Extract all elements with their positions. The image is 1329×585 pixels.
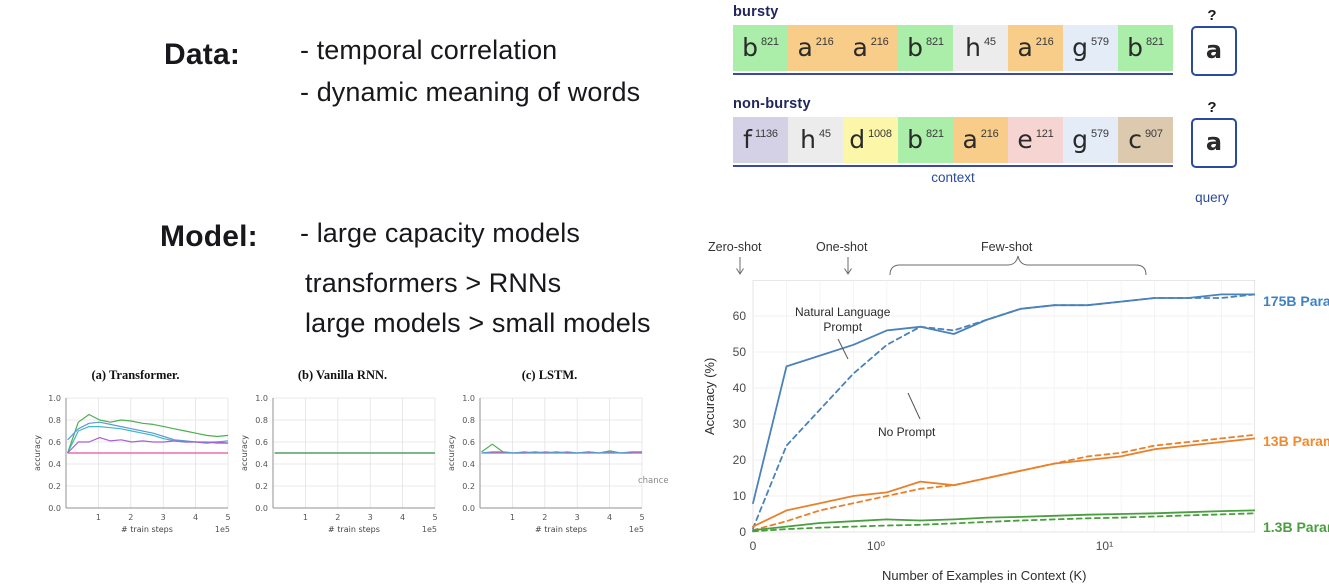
context-cell[interactable]: g579 xyxy=(1063,25,1118,71)
page-title-model: Model: xyxy=(160,220,258,254)
context-underline-non-bursty xyxy=(733,165,1173,167)
context-cell[interactable]: a216 xyxy=(843,25,898,71)
context-cell-glyph: d xyxy=(849,127,865,152)
mini-x-exponent: 1e5 xyxy=(629,525,644,534)
gpt3-incontext-chart: Zero-shot One-shot Few-shot Accuracy (%)… xyxy=(690,235,1329,585)
mini-y-tick: 0.6 xyxy=(462,438,475,447)
mini-x-tick: 2 xyxy=(128,513,133,522)
context-cell-id: 216 xyxy=(816,36,834,48)
mini-y-axis-title: accuracy xyxy=(240,435,249,471)
mini-y-tick: 0.2 xyxy=(48,482,61,491)
query-glyph-non-bursty: a xyxy=(1206,130,1222,154)
mini-x-tick: 4 xyxy=(193,513,198,522)
context-cell[interactable]: b821 xyxy=(1118,25,1173,71)
mini-y-axis-title: accuracy xyxy=(33,435,42,471)
mini-x-tick: 4 xyxy=(400,513,405,522)
mini-x-axis-title: # train steps xyxy=(535,525,587,534)
mini-chart-vanilla-rnn: (b) Vanilla RNN. 0.00.20.40.60.81.012345… xyxy=(235,368,450,553)
sequence-row-non-bursty: non-bursty f1136h45d1008b821a216e121g579… xyxy=(733,96,1237,223)
context-cell-glyph: a xyxy=(1017,35,1032,60)
context-cell[interactable]: b821 xyxy=(898,117,953,163)
data-bullet-1: - temporal correlation xyxy=(300,35,557,66)
context-cell-id: 1136 xyxy=(755,128,778,140)
context-cell-id: 907 xyxy=(1145,128,1163,140)
mini-x-axis-title: # train steps xyxy=(328,525,380,534)
mini-x-tick: 5 xyxy=(432,513,437,522)
mini-chart-svg: 0.00.20.40.60.81.0123451e5# train stepsa… xyxy=(28,390,243,550)
query-box-non-bursty[interactable]: a xyxy=(1191,118,1237,168)
context-cell-id: 45 xyxy=(819,128,831,140)
mini-chart-title-c: (c) LSTM. xyxy=(442,368,657,383)
mini-y-tick: 0.4 xyxy=(48,460,61,469)
context-label: context xyxy=(733,170,1173,185)
context-cell-glyph: g xyxy=(1072,127,1088,152)
mini-x-tick: 3 xyxy=(161,513,166,522)
query-label: query xyxy=(1191,190,1233,205)
context-underline-bursty xyxy=(733,73,1173,75)
mini-y-tick: 0.8 xyxy=(48,416,61,425)
mini-x-tick: 5 xyxy=(639,513,644,522)
mini-x-exponent: 1e5 xyxy=(215,525,230,534)
mini-chart-title-b: (b) Vanilla RNN. xyxy=(235,368,450,383)
mini-plot-area-b: 0.00.20.40.60.81.0123451e5# train stepsa… xyxy=(235,390,450,550)
context-cell[interactable]: f1136 xyxy=(733,117,788,163)
mini-y-tick: 0.4 xyxy=(255,460,268,469)
annotation-leader-lines xyxy=(690,235,1329,585)
burstiness-figure: bursty b821a216a216b821h45a216g579b821 ?… xyxy=(733,4,1323,189)
model-bullet-3: large models > small models xyxy=(305,308,651,339)
context-cell-glyph: a xyxy=(852,35,867,60)
chance-annotation: chance xyxy=(638,476,669,486)
mini-x-tick: 1 xyxy=(96,513,101,522)
context-cell[interactable]: a216 xyxy=(788,25,843,71)
mini-y-tick: 0.8 xyxy=(255,416,268,425)
context-cell-glyph: e xyxy=(1017,127,1032,152)
context-cell-id: 121 xyxy=(1036,128,1054,140)
context-cell-glyph: h xyxy=(800,127,816,152)
query-question-mark-non-bursty: ? xyxy=(1191,99,1233,116)
context-cell[interactable]: h45 xyxy=(953,25,1008,71)
model-bullet-1: - large capacity models xyxy=(300,218,580,249)
context-cell-glyph: a xyxy=(797,35,812,60)
context-cell-id: 216 xyxy=(1036,36,1054,48)
context-cell-id: 821 xyxy=(926,36,944,48)
mini-y-tick: 1.0 xyxy=(48,394,61,403)
mini-y-tick: 0.6 xyxy=(48,438,61,447)
context-cell-glyph: b xyxy=(907,127,923,152)
context-cell-glyph: h xyxy=(965,35,981,60)
data-bullet-2: - dynamic meaning of words xyxy=(300,77,640,108)
mini-x-tick: 2 xyxy=(542,513,547,522)
context-cell[interactable]: e121 xyxy=(1008,117,1063,163)
context-cell-id: 821 xyxy=(1146,36,1164,48)
mini-y-tick: 0.2 xyxy=(462,482,475,491)
mini-chart-svg: 0.00.20.40.60.81.0123451e5# train stepsa… xyxy=(235,390,450,550)
context-cell-id: 579 xyxy=(1091,128,1109,140)
mini-y-tick: 0.0 xyxy=(462,504,475,513)
mini-plot-area-a: 0.00.20.40.60.81.0123451e5# train stepsa… xyxy=(28,390,243,550)
mini-y-tick: 1.0 xyxy=(255,394,268,403)
context-cell-glyph: c xyxy=(1128,127,1142,152)
query-glyph-bursty: a xyxy=(1206,38,1222,62)
mini-x-tick: 3 xyxy=(575,513,580,522)
mini-plot-area-c: 0.00.20.40.60.81.0123451e5# train stepsa… xyxy=(442,390,657,550)
mini-y-tick: 0.0 xyxy=(48,504,61,513)
context-cell-id: 1008 xyxy=(868,128,892,140)
mini-y-tick: 0.8 xyxy=(462,416,475,425)
mini-y-tick: 0.6 xyxy=(255,438,268,447)
mini-x-tick: 5 xyxy=(225,513,230,522)
mini-x-exponent: 1e5 xyxy=(422,525,437,534)
mini-y-tick: 0.0 xyxy=(255,504,268,513)
model-bullet-2: transformers > RNNs xyxy=(305,268,561,299)
context-cells-non-bursty: f1136h45d1008b821a216e121g579c907 xyxy=(733,117,1173,163)
mini-y-tick: 0.2 xyxy=(255,482,268,491)
mini-chart-transformer: (a) Transformer. 0.00.20.40.60.81.012345… xyxy=(28,368,243,553)
context-cell[interactable]: b821 xyxy=(733,25,788,71)
context-cell-id: 821 xyxy=(761,36,779,48)
context-cell-glyph: b xyxy=(742,35,758,60)
context-cell-glyph: b xyxy=(907,35,923,60)
mini-y-tick: 0.4 xyxy=(462,460,475,469)
mini-chart-lstm: (c) LSTM. 0.00.20.40.60.81.0123451e5# tr… xyxy=(442,368,682,553)
context-cell[interactable]: b821 xyxy=(898,25,953,71)
row-title-bursty: bursty xyxy=(733,4,1237,20)
context-cell[interactable]: c907 xyxy=(1118,117,1173,163)
sequence-row-bursty: bursty b821a216a216b821h45a216g579b821 ?… xyxy=(733,4,1237,94)
context-cell-id: 216 xyxy=(981,128,999,140)
query-box-bursty[interactable]: a xyxy=(1191,26,1237,76)
row-title-non-bursty: non-bursty xyxy=(733,96,1237,112)
mini-x-tick: 4 xyxy=(607,513,612,522)
mini-y-tick: 1.0 xyxy=(462,394,475,403)
context-cell-glyph: b xyxy=(1127,35,1143,60)
mini-x-tick: 2 xyxy=(335,513,340,522)
context-cell-id: 216 xyxy=(871,36,889,48)
mini-chart-title-a: (a) Transformer. xyxy=(28,368,243,383)
context-cell[interactable]: g579 xyxy=(1063,117,1118,163)
context-cell[interactable]: d1008 xyxy=(843,117,898,163)
mini-chart-svg: 0.00.20.40.60.81.0123451e5# train stepsa… xyxy=(442,390,657,550)
mini-x-tick: 1 xyxy=(510,513,515,522)
page-title-data: Data: xyxy=(164,38,240,72)
mini-y-axis-title: accuracy xyxy=(447,435,456,471)
context-cell[interactable]: h45 xyxy=(788,117,843,163)
context-cell-id: 821 xyxy=(926,128,944,140)
context-cell-glyph: a xyxy=(962,127,977,152)
context-cell-glyph: f xyxy=(743,127,752,152)
context-cell[interactable]: a216 xyxy=(953,117,1008,163)
context-cells-bursty: b821a216a216b821h45a216g579b821 xyxy=(733,25,1173,71)
mini-x-tick: 1 xyxy=(303,513,308,522)
mini-x-axis-title: # train steps xyxy=(121,525,173,534)
context-cell[interactable]: a216 xyxy=(1008,25,1063,71)
mini-x-tick: 3 xyxy=(368,513,373,522)
query-question-mark-bursty: ? xyxy=(1191,7,1233,24)
context-cell-id: 45 xyxy=(984,36,996,48)
context-cell-glyph: g xyxy=(1072,35,1088,60)
context-cell-id: 579 xyxy=(1091,36,1109,48)
